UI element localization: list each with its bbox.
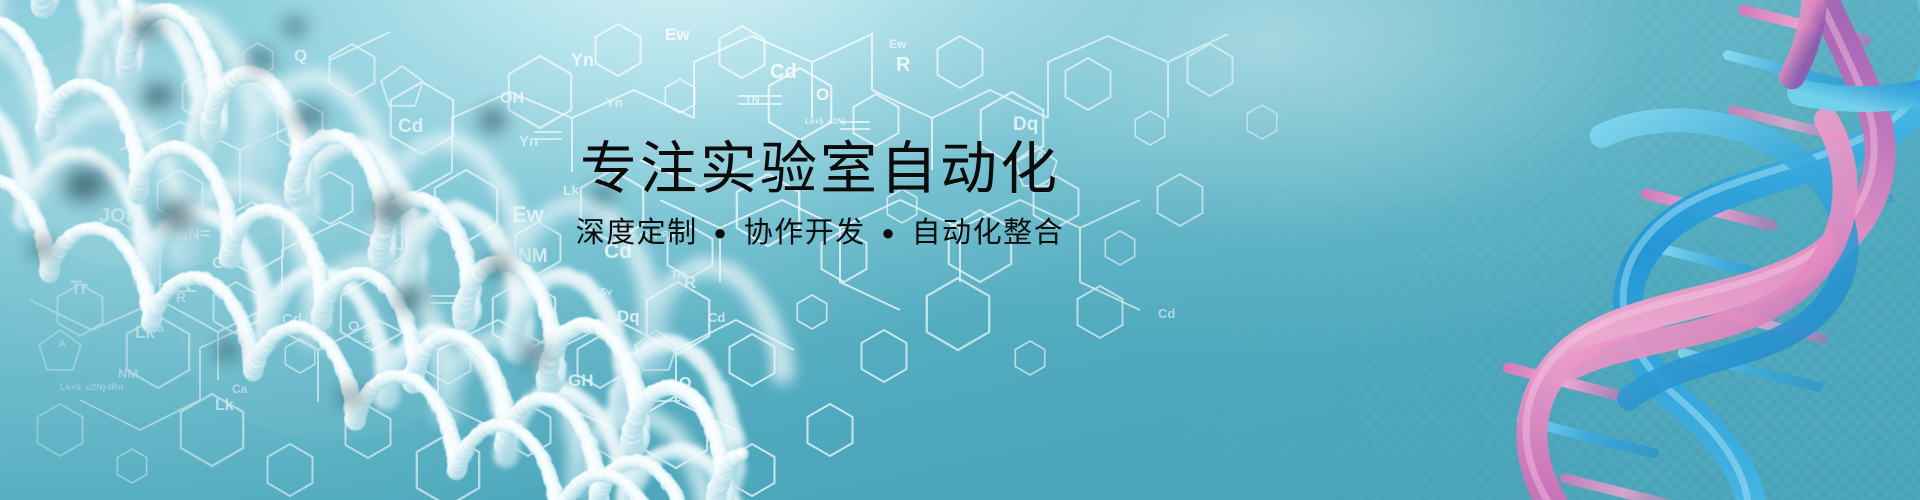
pearl-bead [80,63,103,86]
pearl-bead [115,53,144,82]
pearl-bead [599,472,615,488]
pearl-bead [208,94,228,114]
pearl-bead [303,319,331,347]
pearl-bead [508,282,528,302]
pearl-bead [135,266,160,291]
pearl-bead [590,421,612,443]
pearl-bead [121,5,141,25]
pearl-bead [628,456,640,468]
pearl-bead [615,368,639,392]
pearl-bead [427,393,441,407]
pearl-bead [243,69,261,87]
pearl-bead [386,288,399,301]
pearl-bead [713,396,737,420]
pearl-bead [80,69,106,95]
pearl-bead [721,452,745,476]
pearl-bead [498,430,517,449]
pearl-bead [298,322,328,352]
pearl-bead [206,69,227,90]
pearl-bead [719,412,740,433]
pearl-bead [255,295,277,317]
pearl-bead [376,362,395,381]
pearl-bead [610,455,633,478]
pearl-bead [203,59,223,79]
pearl-bead [207,85,226,104]
pearl-bead [498,409,515,426]
pearl-bead [327,269,341,283]
pearl-bead [494,436,519,461]
pearl-bead [504,415,519,430]
pearl-bead [438,330,452,344]
pearl-bead [170,247,194,271]
pearl-bead [300,266,317,283]
pearl-bead [710,474,730,494]
pearl-bead [706,491,725,500]
pearl-bead [565,423,591,449]
pearl-bead [449,463,465,479]
pearl-bead [720,425,745,450]
pearl-bead [313,277,329,293]
pearl-bead [455,351,476,372]
pearl-bead [693,487,717,500]
pearl-bead [531,388,549,406]
pearl-bead [301,315,331,345]
pearl-bead [32,0,54,3]
pearl-bead [313,330,325,342]
helix-ribbon-blue [1550,0,1920,500]
pearl-bead [496,435,516,455]
pearl-bead [0,28,1,54]
pearl-bead [494,441,517,464]
pearl-bead [638,456,652,470]
pearl-bead [224,44,250,70]
pearl-bead [310,261,328,279]
pearl-bead [630,406,651,427]
pearl-bead [374,369,399,394]
pearl-bead [120,108,142,130]
pearl-bead [459,296,482,319]
pearl-bead [437,382,461,406]
pearl-bead [666,335,683,352]
pearl-bead [301,312,332,343]
pearl-bead [506,408,522,424]
pearl-bead [432,342,456,366]
pearl-bead [0,15,3,40]
pearl-bead [120,37,147,64]
pearl-bead [108,96,141,129]
pearl-bead [116,59,137,80]
pearl-bead [526,437,540,451]
pearl-bead [659,473,673,487]
pearl-bead [373,382,398,407]
pearl-bead [271,85,287,101]
pearl-bead [187,114,208,135]
pearl-bead [193,12,216,35]
pearl-bead [542,368,565,391]
pearl-bead [564,473,595,500]
pearl-bead [136,250,158,272]
pearl-bead [38,105,58,125]
pearl-bead [343,280,362,299]
pearl-bead [216,75,234,93]
pearl-bead [401,321,417,337]
pearl-bead [120,56,143,79]
pearl-bead [595,477,612,494]
pearl-bead [82,69,107,94]
pearl-bead [313,287,332,306]
pearl-bead [622,436,642,456]
pearl-bead [489,371,503,385]
pearl-bead [478,361,498,381]
chem-label: A [58,338,66,350]
pearl-bead [207,91,225,109]
pearl-bead [572,417,585,430]
pearl-bead [71,78,85,92]
pearl-bead [142,310,160,328]
pearl-bead [399,340,415,356]
pearl-bead [536,369,560,393]
pearl-bead [631,410,649,428]
pearl-bead [771,364,796,389]
pearl-bead [426,390,440,404]
pearl-bead [687,258,710,281]
pearl-bead [507,287,535,315]
pearl-bead [760,317,784,341]
pearl-bead [491,418,505,432]
pearl-bead [555,398,571,414]
pearl-bead [532,392,546,406]
pearl-bead [587,459,605,477]
pearl-bead [0,0,6,2]
pearl-bead [455,444,472,461]
pearl-bead [64,80,80,96]
pearl-bead [105,81,136,112]
pearl-bead [497,443,517,463]
pearl-bead [0,18,13,31]
pearl-bead [314,283,331,300]
pearl-bead [459,308,478,327]
pearl-bead [314,308,332,326]
pearl-bead [538,373,561,396]
pearl-bead [543,321,561,339]
pearl-bead [497,435,518,456]
pearl-bead [591,488,608,500]
pearl-bead [610,334,629,353]
pearl-bead [204,97,223,116]
pearl-bead [629,251,650,272]
pearl-bead [106,14,132,40]
pearl-bead [256,318,279,341]
pearl-bead [251,68,266,83]
pearl-bead [719,438,744,463]
pearl-bead [344,397,361,414]
pearl-bead [660,476,675,491]
pearl-bead [616,472,635,491]
pearl-bead [389,262,411,284]
pearl-bead [628,410,651,433]
pearl-bead [563,474,592,500]
pearl-bead [188,272,199,283]
pearl-bead [343,388,359,404]
pearl-bead [117,0,136,9]
pearl-bead [268,294,287,313]
pearl-bead [170,248,196,274]
pearl-bead [696,255,719,278]
pearl-bead [540,349,560,369]
pearl-bead [643,310,671,338]
pearl-bead [395,269,420,294]
pearl-bead [548,372,568,392]
pearl-bead [647,450,664,467]
pearl-bead [381,282,394,295]
pearl-bead [431,399,461,429]
pearl-bead [0,20,4,50]
pearl-bead [236,317,250,331]
pearl-bead [616,493,638,500]
pearl-bead [258,322,277,341]
pearl-bead [302,323,328,349]
pearl-bead [136,11,154,29]
pearl-bead [589,475,607,493]
pearl-bead [496,438,519,461]
pearl-bead [79,55,103,79]
pearl-bead [602,426,619,443]
pearl-bead [442,328,457,343]
pearl-bead [512,249,538,275]
pearl-bead [612,464,634,486]
pearl-bead [655,415,676,436]
pearl-bead [580,435,601,456]
pearl-bead [590,319,605,334]
pearl-bead [90,104,108,122]
pearl-bead [0,0,11,27]
pearl-bead [313,302,332,321]
pearl-bead [439,416,456,433]
pearl-bead [340,270,354,284]
pearl-bead [300,267,323,290]
pearl-bead [447,449,465,467]
pearl-bead [297,321,310,334]
pearl-bead [243,353,262,372]
pearl-bead [316,331,328,343]
pearl-bead [35,118,56,139]
pearl-bead [19,72,42,95]
pearl-bead [635,346,666,377]
chem-label: Ca [232,382,248,396]
pearl-bead [144,314,160,330]
pearl-bead [340,280,358,298]
pearl-bead [669,431,689,451]
pearl-bead [635,395,653,413]
pearl-bead [509,422,522,435]
pearl-bead [553,397,567,411]
pearl-bead [460,281,477,298]
pearl-bead [572,273,592,293]
pearl-bead [339,277,354,292]
pearl-bead [537,392,552,407]
pearl-bead [541,372,561,392]
pearl-bead [614,349,635,370]
chem-label: Ew [665,25,690,44]
pearl-bead [757,310,784,337]
pearl-bead [656,446,671,461]
pearl-bead [382,356,404,378]
pearl-bead [252,73,272,93]
pearl-bead [398,271,420,293]
pearl-bead [608,399,631,422]
pearl-bead [497,431,519,453]
pearl-bead [246,356,264,374]
pearl-bead [522,342,542,362]
pearl-bead [498,428,516,446]
pearl-bead [116,107,135,126]
pearl-bead [468,430,483,445]
pearl-bead [494,392,512,410]
pearl-bead [644,301,670,327]
pearl-bead [395,260,422,287]
pearl-bead [85,55,112,82]
pearl-bead [403,369,422,388]
pearl-bead [507,284,534,311]
pearl-bead [578,277,597,296]
pearl-bead [107,88,138,119]
pearl-bead [244,356,263,375]
pearl-bead [597,416,617,436]
pearl-bead [107,28,135,56]
pearl-bead [709,380,731,402]
pearl-bead [521,286,540,305]
pearl-bead [614,458,629,473]
pearl-bead [635,346,662,373]
pearl-bead [36,94,56,114]
pearl-bead [241,334,256,349]
pearl-bead [10,26,26,42]
pearl-bead [298,317,328,347]
pearl-bead [370,330,387,347]
pearl-bead [58,84,73,99]
pearl-bead [639,337,671,369]
pearl-bead [262,75,278,91]
pearl-bead [82,71,105,94]
pearl-bead [645,337,663,355]
pearl-bead [611,404,636,429]
pearl-bead [539,355,560,376]
pearl-bead [326,73,348,95]
pearl-bead [133,268,149,284]
pearl-bead [514,336,534,356]
pearl-bead [131,2,149,20]
pearl-bead [136,266,156,286]
pearl-bead [503,255,520,272]
pearl-bead [557,495,574,500]
pearl-bead [169,30,188,49]
pearl-bead [94,27,112,45]
pearl-bead [413,377,426,390]
pearl-bead [559,396,580,417]
pearl-bead [430,330,453,353]
pearl-bead [455,309,475,329]
pearl-bead [714,464,739,489]
pearl-bead [510,263,537,290]
pearl-bead [461,339,478,356]
pearl-bead [707,497,728,500]
pearl-bead [441,377,464,400]
pearl-bead [346,403,363,420]
pearl-bead [535,351,555,371]
pearl-bead [200,113,221,134]
pearl-bead [601,311,623,333]
pearl-bead [306,69,328,91]
pearl-bead [619,352,636,369]
pearl-bead [449,463,465,479]
pearl-bead [32,0,52,7]
pearl-bead [527,277,548,298]
pearl-bead [704,369,722,387]
pearl-bead [78,79,90,91]
pearl-bead [391,370,403,382]
pearl-bead [83,51,103,71]
pearl-bead [106,95,134,123]
pearl-bead [272,284,292,304]
pearl-bead [244,347,260,363]
pearl-bead [37,87,55,105]
pearl-bead [0,0,9,25]
pearl-bead [641,407,660,426]
pearl-bead [608,329,627,348]
pearl-bead [0,0,12,8]
pearl-bead [260,307,281,328]
pearl-bead [112,68,143,99]
pearl-bead [38,114,55,131]
pearl-bead [211,84,230,103]
pearl-bead [476,422,491,437]
pearl-bead [549,334,567,352]
pearl-bead [649,451,664,466]
pearl-bead [416,342,432,358]
pearl-bead [638,294,668,324]
pearl-bead [541,462,555,476]
pearl-bead [499,428,519,448]
pearl-bead [642,315,671,344]
pearl-bead [221,41,245,65]
pearl-bead [206,95,224,113]
pearl-bead [113,94,142,123]
pearl-bead [616,494,637,500]
pearl-bead [444,327,458,341]
pearl-bead [353,255,374,276]
pearl-bead [272,326,286,340]
pearl-bead [596,416,615,435]
pearl-bead [502,337,525,360]
pearl-bead [135,263,161,289]
chem-label: Lk+5_o2Nj-tRn [60,382,123,392]
pearl-bead [579,396,594,411]
pearl-bead [122,32,140,50]
pearl-bead [565,470,592,497]
pearl-bead [136,267,158,289]
pearl-bead [122,28,141,47]
pearl-bead [501,419,515,433]
pearl-bead [679,443,698,462]
pearl-bead [350,405,366,421]
pearl-bead [373,373,388,388]
pearl-bead [386,352,405,371]
pearl-bead [299,320,328,349]
pearl-bead [0,1,12,29]
pearl-bead [0,37,15,59]
pearl-bead [119,34,140,55]
pearl-bead [326,342,339,355]
